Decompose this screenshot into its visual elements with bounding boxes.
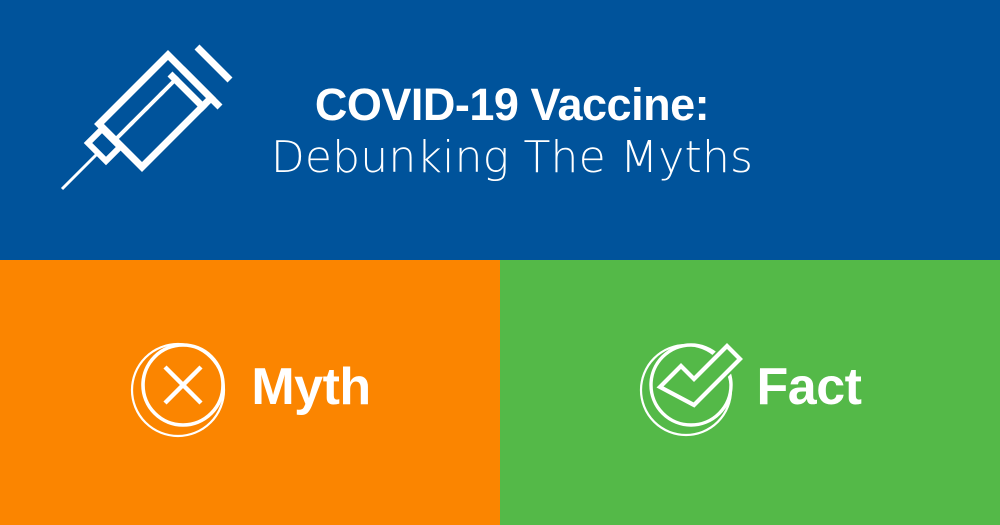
circle-x-icon <box>129 335 233 439</box>
syringe-icon <box>58 42 233 207</box>
panel-myth: Myth <box>0 260 500 525</box>
panel-fact: Fact <box>500 260 1000 525</box>
panels-row: Myth <box>0 260 1000 525</box>
panel-fact-content: Fact <box>639 335 862 439</box>
infographic-root: COVID-19 Vaccine: Debunking The Myths <box>0 0 1000 525</box>
circle-check-icon <box>639 335 743 439</box>
header-banner: COVID-19 Vaccine: Debunking The Myths <box>0 0 1000 260</box>
page-subtitle: Debunking The Myths <box>232 131 792 185</box>
panel-myth-content: Myth <box>129 335 370 439</box>
page-title: COVID-19 Vaccine: <box>232 78 792 131</box>
panel-fact-label: Fact <box>757 361 862 413</box>
title-block: COVID-19 Vaccine: Debunking The Myths <box>232 78 792 185</box>
panel-myth-label: Myth <box>251 361 370 413</box>
